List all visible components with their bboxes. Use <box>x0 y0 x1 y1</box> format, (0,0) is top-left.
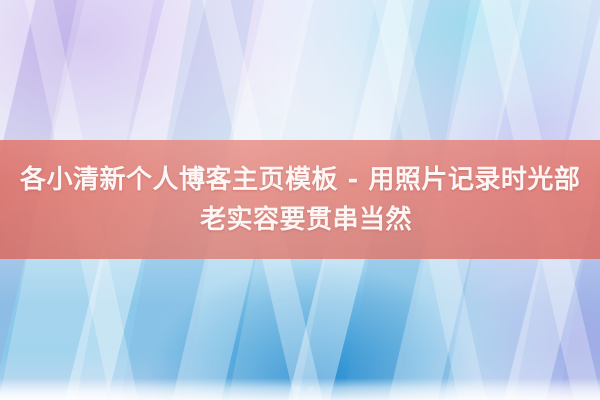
headline-line-2: 老实容要贯串当然 <box>200 200 412 240</box>
banner-canvas: 各小清新个人博客主页模板 - 用照片记录时光部 老实容要贯串当然 <box>0 0 600 400</box>
headline-block: 各小清新个人博客主页模板 - 用照片记录时光部 老实容要贯串当然 <box>0 140 600 259</box>
headline-line-1: 各小清新个人博客主页模板 - 用照片记录时光部 <box>20 160 580 200</box>
watermark-artifact <box>290 381 324 394</box>
